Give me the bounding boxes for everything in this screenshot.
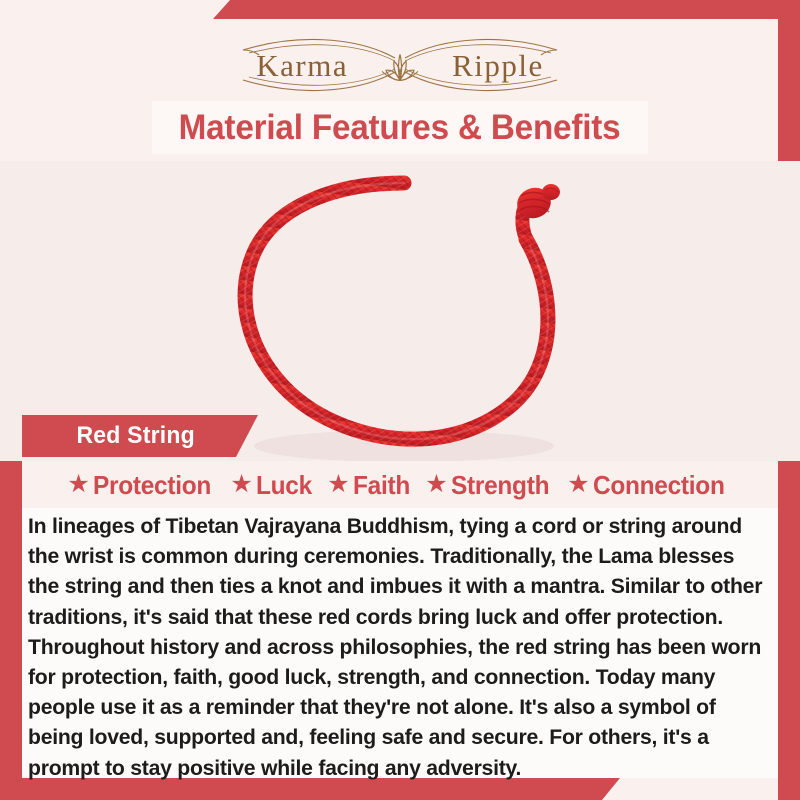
benefit-item-connection: ★ Connection [562,470,737,501]
poster-canvas: Karma Ripple Material Features & Benefit… [0,0,800,800]
star-icon: ★ [327,472,349,497]
benefit-item-protection: ★ Protection [62,470,223,501]
benefit-label: Connection [593,470,725,501]
title-band: Material Features & Benefits [152,101,648,154]
description-text: In lineages of Tibetan Vajrayana Buddhis… [28,512,766,784]
brand-name-left: Karma [256,50,348,81]
page-title: Material Features & Benefits [179,108,621,148]
benefit-item-strength: ★ Strength [420,470,560,501]
brand-logo: Karma Ripple [0,36,800,94]
star-icon: ★ [567,472,589,497]
star-icon: ★ [230,472,252,497]
brand-lockup: Karma Ripple [235,36,565,94]
material-label: Red String [76,422,194,450]
benefit-label: Strength [451,470,549,501]
star-icon: ★ [425,472,447,497]
benefits-list: ★ Protection ★ Luck ★ Faith ★ Strength ★… [22,466,778,504]
material-label-banner: Red String [22,415,258,457]
description-panel: In lineages of Tibetan Vajrayana Buddhis… [22,508,778,778]
lotus-icon [376,49,424,83]
benefit-item-faith: ★ Faith [322,470,418,501]
brand-name-right: Ripple [452,50,544,81]
benefit-label: Luck [256,470,312,501]
benefit-label: Faith [353,470,410,501]
benefit-item-luck: ★ Luck [225,470,320,501]
benefit-label: Protection [93,470,211,501]
decorative-top-bar [213,0,800,19]
star-icon: ★ [67,472,89,497]
